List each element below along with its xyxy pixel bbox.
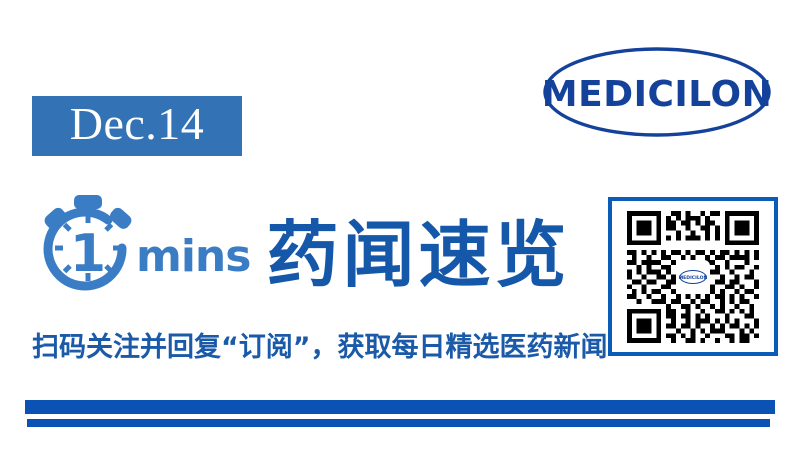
subtitle-text: 扫码关注并回复“订阅”，获取每日精选医药新闻 xyxy=(32,325,608,364)
qr-center-medicilon-logo: MEDICILON xyxy=(676,260,710,294)
mins-label: mins xyxy=(136,231,250,282)
bottom-rule-thick xyxy=(25,400,775,414)
date-badge: Dec.14 xyxy=(32,96,242,156)
qr-code-card[interactable]: MEDICILON xyxy=(608,197,778,356)
stopwatch-icon: 1 xyxy=(36,193,140,299)
medicilon-logo: MEDICILON xyxy=(542,46,772,138)
date-badge-label: Dec.14 xyxy=(70,101,205,147)
newsletter-banner: Dec.14 MEDICILON xyxy=(0,0,800,468)
stopwatch-digit: 1 xyxy=(70,224,106,284)
qr-code-image[interactable]: MEDICILON xyxy=(622,206,764,348)
qr-center-logo-text: MEDICILON xyxy=(679,275,708,281)
headline-title: 药闻速览 xyxy=(266,196,570,301)
bottom-rule-thin xyxy=(27,419,770,427)
medicilon-logo-text: MEDICILON xyxy=(542,74,772,115)
headline-row: 1 mins 药闻速览 xyxy=(36,190,570,302)
